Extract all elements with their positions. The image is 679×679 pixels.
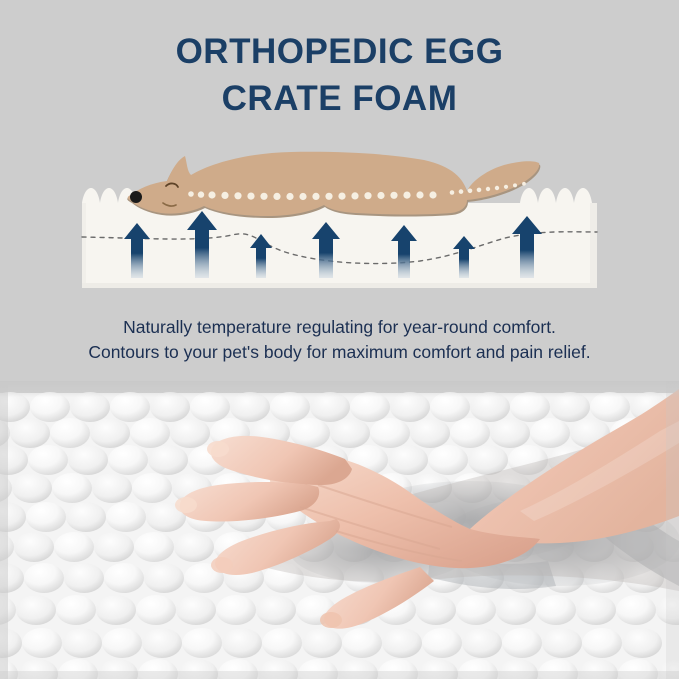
page-title-line-2: CRATE FOAM xyxy=(0,75,679,122)
page-title-line-1: ORTHOPEDIC EGG xyxy=(0,28,679,75)
top-info-panel: ORTHOPEDIC EGG CRATE FOAM xyxy=(0,0,679,381)
dog-nose-icon xyxy=(130,191,142,203)
page-title: ORTHOPEDIC EGG CRATE FOAM xyxy=(0,28,679,122)
feature-caption: Naturally temperature regulating for yea… xyxy=(0,315,679,365)
foam-photo-panel xyxy=(0,381,679,679)
feature-caption-line-1: Naturally temperature regulating for yea… xyxy=(0,315,679,340)
hand-on-foam-photo xyxy=(0,381,679,679)
product-infographic: ORTHOPEDIC EGG CRATE FOAM xyxy=(0,0,679,679)
feature-caption-line-2: Contours to your pet's body for maximum … xyxy=(0,340,679,365)
dog-on-foam-illustration xyxy=(0,125,679,305)
